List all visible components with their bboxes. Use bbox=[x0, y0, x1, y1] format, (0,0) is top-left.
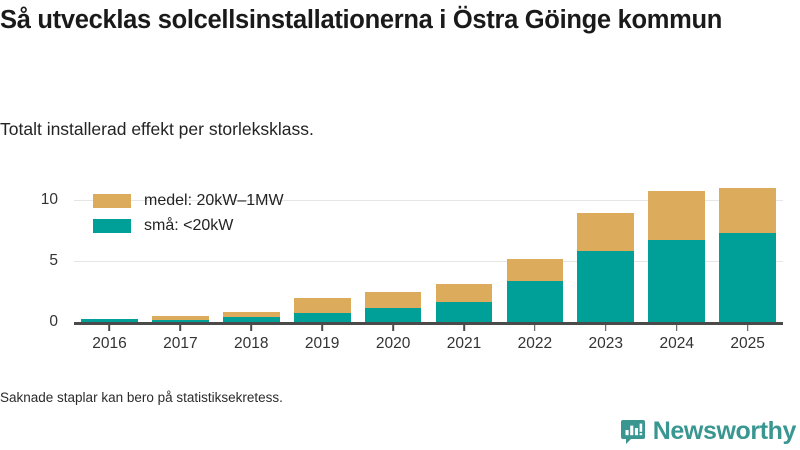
legend-swatch-1 bbox=[93, 219, 131, 233]
bar-slot-2022 bbox=[499, 180, 570, 322]
page-title: Så utvecklas solcellsinstallationerna i … bbox=[0, 4, 770, 36]
y-tick-label-5: 5 bbox=[0, 252, 58, 270]
bar-stack-2016[interactable] bbox=[81, 319, 138, 322]
bar-slot-2023 bbox=[570, 180, 641, 322]
chart-legend: medel: 20kW–1MWsmå: <20kW bbox=[93, 188, 284, 238]
legend-item-1[interactable]: små: <20kW bbox=[93, 213, 284, 238]
bar-stack-2025[interactable] bbox=[719, 188, 776, 322]
x-tick-2022 bbox=[499, 324, 570, 332]
x-tick-label-2017: 2017 bbox=[145, 335, 216, 353]
x-tick-mark-2016 bbox=[109, 324, 111, 331]
x-tick-2020 bbox=[358, 324, 429, 332]
x-tick-mark-2021 bbox=[463, 324, 465, 331]
x-tick-marks bbox=[74, 324, 783, 332]
x-tick-label-2016: 2016 bbox=[74, 335, 145, 353]
legend-label-1: små: <20kW bbox=[144, 217, 233, 235]
x-tick-label-2021: 2021 bbox=[429, 335, 500, 353]
x-tick-2018 bbox=[216, 324, 287, 332]
x-tick-mark-2022 bbox=[534, 324, 536, 331]
bar-slot-2025 bbox=[712, 180, 783, 322]
x-tick-2023 bbox=[570, 324, 641, 332]
bar-segment-sma-2025[interactable] bbox=[719, 233, 776, 322]
bar-segment-medel-2021[interactable] bbox=[436, 284, 493, 302]
bar-segment-medel-2023[interactable] bbox=[577, 213, 634, 251]
bar-segment-sma-2022[interactable] bbox=[507, 281, 564, 322]
bar-stack-2019[interactable] bbox=[294, 298, 351, 322]
chart-footnote: Saknade staplar kan bero på statistiksek… bbox=[0, 390, 283, 405]
y-tick-label-0: 0 bbox=[0, 313, 58, 331]
bar-slot-2019 bbox=[287, 180, 358, 322]
x-tick-2017 bbox=[145, 324, 216, 332]
bar-segment-sma-2019[interactable] bbox=[294, 313, 351, 322]
bar-slot-2021 bbox=[429, 180, 500, 322]
chart-subtitle: Totalt installerad effekt per storlekskl… bbox=[0, 119, 314, 140]
x-tick-mark-2025 bbox=[747, 324, 749, 331]
x-tick-label-2020: 2020 bbox=[358, 335, 429, 353]
x-tick-mark-2023 bbox=[605, 324, 607, 331]
bar-stack-2020[interactable] bbox=[365, 292, 422, 322]
chart-page: Så utvecklas solcellsinstallationerna i … bbox=[0, 0, 800, 450]
logo-wordmark: Newsworthy bbox=[653, 417, 796, 446]
legend-item-0[interactable]: medel: 20kW–1MW bbox=[93, 188, 284, 213]
x-tick-mark-2018 bbox=[250, 324, 252, 331]
bar-stack-2018[interactable] bbox=[223, 312, 280, 322]
bar-segment-sma-2018[interactable] bbox=[223, 317, 280, 322]
bar-segment-medel-2022[interactable] bbox=[507, 259, 564, 282]
bar-slot-2024 bbox=[641, 180, 712, 322]
bar-chart-speech-bubble-icon bbox=[620, 419, 646, 445]
x-tick-mark-2017 bbox=[180, 324, 182, 331]
x-tick-label-2022: 2022 bbox=[499, 335, 570, 353]
bar-segment-sma-2023[interactable] bbox=[577, 251, 634, 322]
bar-segment-sma-2020[interactable] bbox=[365, 308, 422, 322]
x-tick-2019 bbox=[287, 324, 358, 332]
bar-segment-medel-2019[interactable] bbox=[294, 298, 351, 313]
x-tick-mark-2020 bbox=[392, 324, 394, 331]
bar-segment-sma-2017[interactable] bbox=[152, 320, 209, 322]
x-tick-2025 bbox=[712, 324, 783, 332]
bar-segment-medel-2025[interactable] bbox=[719, 188, 776, 234]
bar-stack-2017[interactable] bbox=[152, 316, 209, 322]
bar-slot-2020 bbox=[358, 180, 429, 322]
x-tick-label-2024: 2024 bbox=[641, 335, 712, 353]
bar-segment-sma-2016[interactable] bbox=[81, 319, 138, 322]
x-tick-mark-2019 bbox=[321, 324, 323, 331]
x-tick-2021 bbox=[429, 324, 500, 332]
newsworthy-logo[interactable]: Newsworthy bbox=[620, 417, 796, 446]
bar-stack-2023[interactable] bbox=[577, 213, 634, 322]
x-tick-label-2018: 2018 bbox=[216, 335, 287, 353]
x-tick-label-2025: 2025 bbox=[712, 335, 783, 353]
bar-segment-sma-2021[interactable] bbox=[436, 302, 493, 322]
x-axis-labels: 2016201720182019202020212022202320242025 bbox=[74, 335, 783, 353]
x-tick-label-2019: 2019 bbox=[287, 335, 358, 353]
bar-stack-2021[interactable] bbox=[436, 284, 493, 322]
x-tick-mark-2024 bbox=[676, 324, 678, 331]
y-tick-label-10: 10 bbox=[0, 191, 58, 209]
x-tick-2024 bbox=[641, 324, 712, 332]
legend-label-0: medel: 20kW–1MW bbox=[144, 192, 284, 210]
bar-stack-2022[interactable] bbox=[507, 259, 564, 322]
bar-stack-2024[interactable] bbox=[648, 191, 705, 322]
x-tick-2016 bbox=[74, 324, 145, 332]
bar-segment-medel-2024[interactable] bbox=[648, 191, 705, 239]
legend-swatch-0 bbox=[93, 194, 131, 208]
x-tick-label-2023: 2023 bbox=[570, 335, 641, 353]
bar-segment-medel-2020[interactable] bbox=[365, 292, 422, 308]
bar-segment-sma-2024[interactable] bbox=[648, 240, 705, 322]
